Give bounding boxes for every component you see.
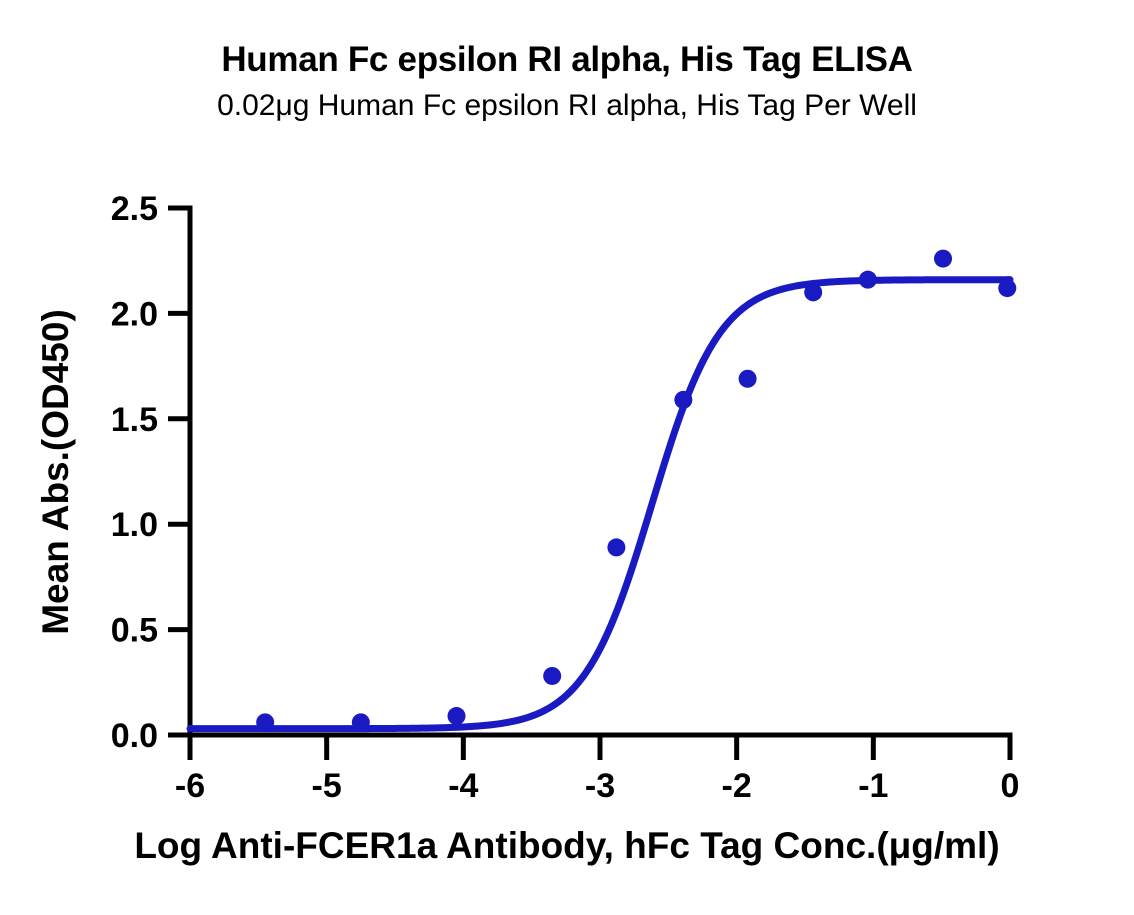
x-tick-label: 0 bbox=[1001, 767, 1020, 805]
data-point-marker bbox=[352, 713, 370, 731]
data-point-marker bbox=[739, 370, 757, 388]
y-tick-label: 0.0 bbox=[111, 717, 158, 755]
plot-area: 0.00.51.01.52.02.5 -6-5-4-3-2-10 Mean Ab… bbox=[0, 0, 1134, 915]
data-point-marker bbox=[607, 538, 625, 556]
y-axis-title: Mean Abs.(OD450) bbox=[35, 309, 76, 635]
y-tick-label: 0.5 bbox=[111, 612, 158, 650]
x-tick-label: -3 bbox=[585, 767, 615, 805]
data-points bbox=[256, 250, 1016, 732]
fit-curve bbox=[190, 280, 1010, 729]
x-axis-ticks: -6-5-4-3-2-10 bbox=[175, 735, 1020, 805]
y-tick-label: 2.0 bbox=[111, 295, 158, 333]
data-point-marker bbox=[859, 271, 877, 289]
data-point-marker bbox=[256, 713, 274, 731]
x-tick-label: -1 bbox=[858, 767, 888, 805]
x-tick-label: -4 bbox=[448, 767, 478, 805]
x-tick-label: -2 bbox=[722, 767, 752, 805]
data-point-marker bbox=[804, 283, 822, 301]
data-point-marker bbox=[674, 391, 692, 409]
data-point-marker bbox=[448, 707, 466, 725]
y-tick-label: 1.0 bbox=[111, 506, 158, 544]
data-point-marker bbox=[998, 279, 1016, 297]
data-point-marker bbox=[934, 250, 952, 268]
data-point-marker bbox=[543, 667, 561, 685]
x-tick-label: -5 bbox=[312, 767, 342, 805]
y-tick-label: 1.5 bbox=[111, 401, 158, 439]
x-tick-label: -6 bbox=[175, 767, 205, 805]
y-tick-label: 2.5 bbox=[111, 190, 158, 228]
elisa-chart-figure: Human Fc epsilon RI alpha, His Tag ELISA… bbox=[0, 0, 1134, 915]
y-axis-ticks: 0.00.51.01.52.02.5 bbox=[111, 190, 190, 755]
x-axis-title: Log Anti-FCER1a Antibody, hFc Tag Conc.(… bbox=[134, 825, 999, 866]
